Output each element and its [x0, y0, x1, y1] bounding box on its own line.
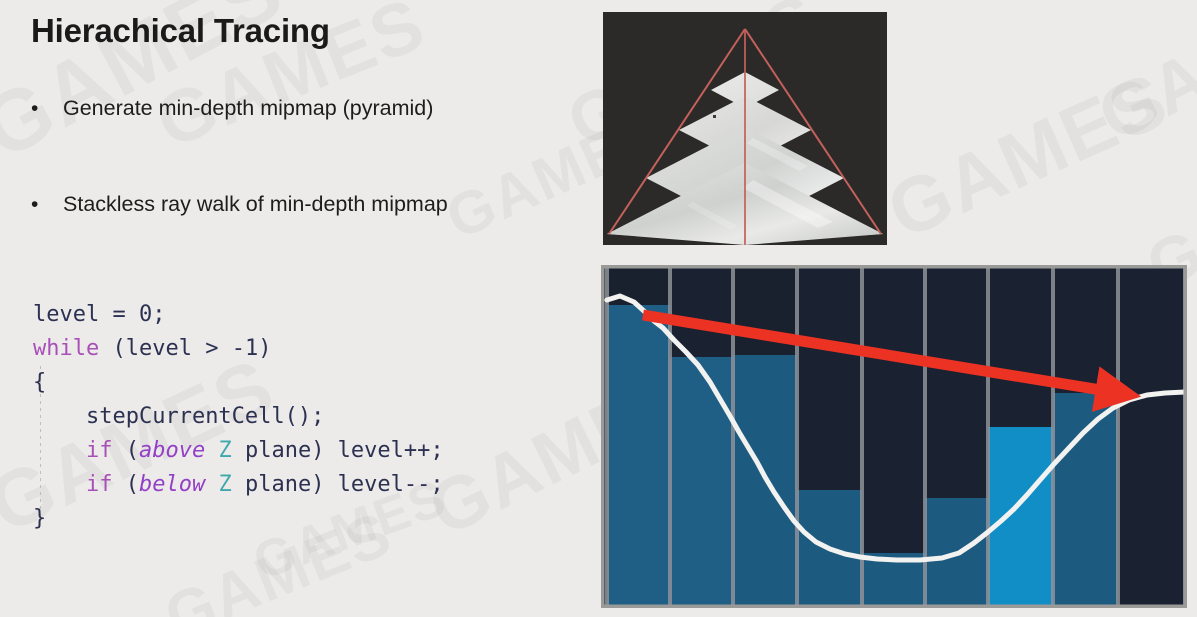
code-token: ( — [112, 438, 139, 463]
cell-separator — [795, 266, 799, 607]
code-line: { — [33, 366, 444, 400]
page-title: Hierachical Tracing — [31, 12, 330, 50]
code-token: above — [139, 438, 205, 463]
code-token: ( — [99, 336, 126, 361]
code-block: level = 0;while (level > -1){ stepCurren… — [33, 298, 444, 536]
code-token: -1 — [232, 336, 259, 361]
mipmap-cell-bar — [670, 357, 733, 607]
code-token: 0 — [139, 302, 152, 327]
code-token: level — [33, 302, 99, 327]
bullet-marker-icon: • — [31, 194, 63, 215]
code-token: stepCurrentCell(); — [86, 404, 324, 429]
mipmap-cell-bar — [1053, 393, 1118, 607]
code-token — [205, 438, 218, 463]
code-token: ( — [112, 472, 139, 497]
code-token: plane) level--; — [232, 472, 444, 497]
code-token: } — [33, 506, 46, 531]
watermark-games: GAMES — [1086, 0, 1197, 158]
code-token: if — [86, 438, 113, 463]
bullet-text: Generate min-depth mipmap (pyramid) — [63, 96, 433, 121]
code-line: while (level > -1) — [33, 332, 444, 366]
watermark-games: GAMES — [874, 54, 1181, 258]
code-line: if (below Z plane) level--; — [33, 468, 444, 502]
code-line: level = 0; — [33, 298, 444, 332]
cell-separator — [986, 266, 990, 607]
min-depth-mipmap-svg — [602, 266, 1186, 607]
code-line: if (above Z plane) level++; — [33, 434, 444, 468]
mipmap-cell-bar — [988, 427, 1053, 607]
cell-separator — [1116, 266, 1120, 607]
mipmap-pyramid-image — [603, 12, 887, 245]
pyramid-svg — [603, 12, 887, 245]
slide-canvas: GAMES GAMES GAMES GAMES GAMES GAMES GAME… — [0, 0, 1197, 617]
min-depth-mipmap-diagram — [602, 266, 1186, 607]
code-token: ) — [258, 336, 271, 361]
bullet-marker-icon: • — [31, 98, 63, 119]
cell-separator — [731, 266, 735, 607]
code-token: Z — [218, 472, 231, 497]
bullet-text: Stackless ray walk of min-depth mipmap — [63, 192, 448, 217]
code-token: plane) level++; — [232, 438, 444, 463]
mipmap-cell-empty — [1118, 266, 1185, 607]
code-token: { — [33, 370, 46, 395]
cell-separator — [1051, 266, 1055, 607]
code-token — [205, 472, 218, 497]
cell-separator — [923, 266, 927, 607]
code-token: ; — [152, 302, 165, 327]
code-token: while — [33, 336, 99, 361]
code-token: > — [192, 336, 232, 361]
pyramid-speck — [713, 115, 716, 118]
code-token: below — [139, 472, 205, 497]
code-token: Z — [218, 438, 231, 463]
mipmap-cell-bar — [607, 305, 670, 607]
code-token: if — [86, 472, 113, 497]
bullet-item: • Stackless ray walk of min-depth mipmap — [31, 192, 448, 217]
bullet-item: • Generate min-depth mipmap (pyramid) — [31, 96, 433, 121]
code-token: level — [126, 336, 192, 361]
cell-separator — [605, 266, 609, 607]
code-token: = — [99, 302, 139, 327]
code-line: } — [33, 502, 444, 536]
code-line: stepCurrentCell(); — [33, 400, 444, 434]
